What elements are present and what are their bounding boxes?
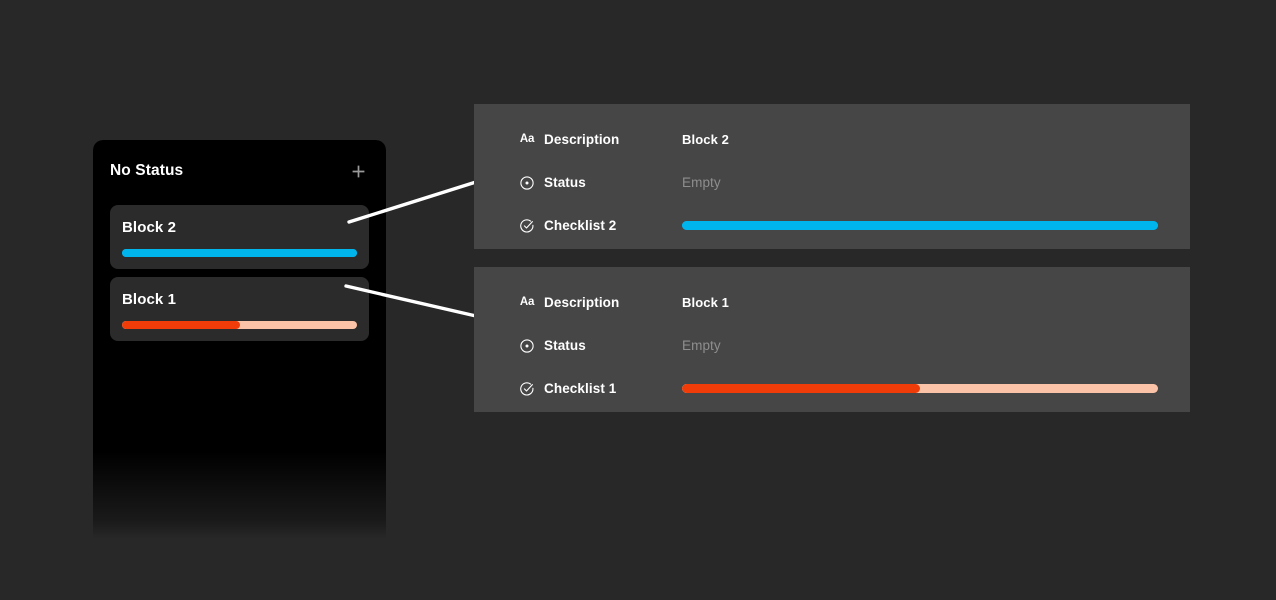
card-progress-bar [122, 321, 357, 329]
status-circle-icon [519, 338, 535, 354]
row-label-text: Checklist 1 [544, 381, 616, 396]
board-card-block-1[interactable]: Block 1 [110, 277, 369, 341]
card-progress-bar [122, 249, 357, 257]
card-progress-fill [122, 321, 240, 329]
detail-rows: Aa Description Block 2 Status [474, 104, 1190, 247]
card-list: Block 2 Block 1 [110, 205, 369, 341]
description-value: Block 1 [682, 295, 729, 310]
row-label: Status [519, 338, 682, 354]
row-label-text: Status [544, 175, 586, 190]
row-label: Status [519, 175, 682, 191]
checklist-progress-fill [682, 384, 920, 393]
row-label-text: Status [544, 338, 586, 353]
add-card-button[interactable] [347, 160, 369, 182]
status-circle-icon [519, 175, 535, 191]
row-value[interactable] [682, 221, 1190, 230]
row-label-text: Description [544, 132, 619, 147]
card-title: Block 2 [122, 219, 357, 236]
check-circle-icon [519, 381, 535, 397]
row-value[interactable] [682, 384, 1190, 393]
detail-panel-block-2: Aa Description Block 2 Status [474, 104, 1190, 249]
row-value[interactable]: Empty [682, 338, 1190, 353]
checklist-progress-bar [682, 384, 1158, 393]
board-card-block-2[interactable]: Block 2 [110, 205, 369, 269]
plus-icon [351, 164, 366, 179]
description-value: Block 2 [682, 132, 729, 147]
detail-row-checklist[interactable]: Checklist 1 [474, 367, 1190, 410]
text-format-icon: Aa [519, 295, 535, 311]
row-label-text: Checklist 2 [544, 218, 616, 233]
detail-row-status[interactable]: Status Empty [474, 161, 1190, 204]
status-value-placeholder: Empty [682, 175, 721, 190]
detail-row-description[interactable]: Aa Description Block 1 [474, 281, 1190, 324]
detail-panel-block-1: Aa Description Block 1 Status [474, 267, 1190, 412]
row-label: Checklist 1 [519, 381, 682, 397]
detail-rows: Aa Description Block 1 Status [474, 267, 1190, 410]
row-value[interactable]: Empty [682, 175, 1190, 190]
row-value[interactable]: Block 1 [682, 295, 1190, 310]
app-canvas: No Status Block 2 Block 1 [0, 0, 1276, 600]
card-progress-fill [122, 249, 357, 257]
row-label-text: Description [544, 295, 619, 310]
status-value-placeholder: Empty [682, 338, 721, 353]
checklist-progress-fill [682, 221, 1158, 230]
text-format-icon: Aa [519, 132, 535, 148]
detail-row-status[interactable]: Status Empty [474, 324, 1190, 367]
row-label: Aa Description [519, 132, 682, 148]
detail-row-checklist[interactable]: Checklist 2 [474, 204, 1190, 247]
column-title: No Status [110, 162, 183, 180]
card-title: Block 1 [122, 291, 357, 308]
board-column-no-status: No Status Block 2 Block 1 [93, 140, 386, 538]
row-value[interactable]: Block 2 [682, 132, 1190, 147]
row-label: Aa Description [519, 295, 682, 311]
check-circle-icon [519, 218, 535, 234]
detail-row-description[interactable]: Aa Description Block 2 [474, 118, 1190, 161]
checklist-progress-bar [682, 221, 1158, 230]
column-header: No Status [93, 140, 386, 202]
row-label: Checklist 2 [519, 218, 682, 234]
